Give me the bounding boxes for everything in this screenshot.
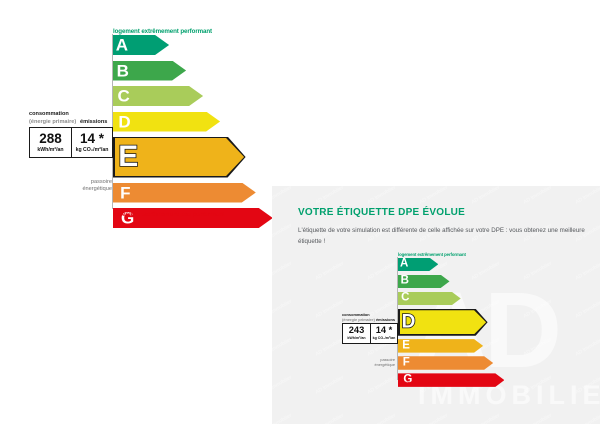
sim-emissions-value-cell: 14 * kg CO₂/m²/an <box>370 324 397 343</box>
consumption-value-cell: 288 kWh/m²/an <box>30 128 71 157</box>
dpe-energy-label-main: logement extrêmement performant ABCDEFG … <box>0 0 300 230</box>
watermark-tile: AD Immobilier <box>272 337 293 358</box>
watermark-tile: AD Immobilier <box>419 186 449 205</box>
watermark-tile: AD Immobilier <box>272 223 293 244</box>
passoire-energetique-caption: passoire énergétique <box>32 179 112 193</box>
sim-grade-bar-d: D <box>398 309 488 336</box>
sim-grade-bar-c: C <box>398 292 461 306</box>
watermark-tile: AD Immobilier <box>272 375 293 396</box>
sim-chevron-shape-e <box>398 339 483 353</box>
sim-grade-row-c: C <box>398 292 510 306</box>
label-top-caption: logement extrêmement performant <box>113 28 212 35</box>
watermark-tile: AD Immobilier <box>471 186 501 205</box>
sim-passoire-line-2: énergétique <box>335 363 395 368</box>
watermark-tile: AD Immobilier <box>272 299 293 320</box>
consumption-label: consommation <box>29 111 69 117</box>
watermark-tile: AD Immobilier <box>367 413 397 424</box>
watermark-tile: AD Immobilier <box>419 413 449 424</box>
sim-consumption-value: 243 <box>349 326 365 335</box>
sim-grade-letter-f: F <box>403 357 410 369</box>
sim-grade-row-e: E <box>398 339 510 353</box>
grade-row-a: A <box>113 35 283 55</box>
label-bottom-caption: logement extrêmement peu performant <box>113 211 224 218</box>
watermark-tile: AD Immobilier <box>272 186 293 205</box>
panel-body-text: L'étiquette de votre simulation est diff… <box>298 226 586 248</box>
watermark-tile: AD Immobilier <box>523 413 553 424</box>
sim-consumption-value-cell: 243 kWh/m²/an <box>343 324 370 343</box>
sim-emissions-value: 14 * <box>376 326 393 335</box>
watermark-tile: AD Immobilier <box>575 413 600 424</box>
grade-row-d: D <box>113 112 283 132</box>
passoire-line-1: passoire <box>32 179 112 186</box>
grade-row-b: B <box>113 61 283 81</box>
watermark-tile: AD Immobilier <box>367 186 397 205</box>
sim-consumption-unit: kWh/m²/an <box>347 337 365 341</box>
consumption-value: 288 <box>39 132 62 146</box>
sim-grade-letter-e: E <box>402 340 410 352</box>
grade-letter-a: A <box>116 37 128 54</box>
grade-letter-e: E <box>118 142 138 172</box>
emissions-label: émissions <box>80 119 107 125</box>
dpe-energy-label-simulation: logement extrêmement performant ABCDEFG … <box>330 252 580 402</box>
grade-bar-b: B <box>113 61 186 81</box>
sim-chevron-shape-f <box>398 356 493 370</box>
grade-letter-b: B <box>117 62 129 79</box>
grade-bar-f: F <box>113 183 256 203</box>
dpe-evolution-panel: AD IMMOBILIER AD ImmobilierAD Immobilier… <box>272 186 600 424</box>
consumption-unit: kWh/m²/an <box>37 148 63 153</box>
sim-grade-letter-d: D <box>402 313 416 332</box>
panel-title: VOTRE ÉTIQUETTE DPE ÉVOLUE <box>298 207 465 218</box>
sim-grade-letter-c: C <box>401 293 409 305</box>
sim-emissions-label: émissions <box>376 317 395 322</box>
sim-consumption-sublabel: (énergie primaire) <box>342 317 375 322</box>
sim-grade-letter-b: B <box>401 276 409 288</box>
grade-bar-a: A <box>113 35 169 55</box>
emissions-unit: kg CO₂/m²/an <box>76 148 109 153</box>
sim-grade-bar-e: E <box>398 339 483 353</box>
sim-grade-row-a: A <box>398 258 510 272</box>
watermark-tile: AD Immobilier <box>315 186 345 205</box>
sim-value-box: 243 kWh/m²/an 14 * kg CO₂/m²/an <box>342 323 398 344</box>
chevron-shape-f <box>113 183 256 203</box>
emissions-value: 14 * <box>80 132 104 146</box>
grade-bar-list: ABCDEFG <box>113 35 283 234</box>
grade-row-e: E <box>113 137 283 178</box>
watermark-tile: AD Immobilier <box>471 413 501 424</box>
passoire-line-2: énergétique <box>32 186 112 193</box>
sim-grade-bar-f: F <box>398 356 493 370</box>
grade-letter-d: D <box>118 113 130 130</box>
sim-grade-row-f: F <box>398 356 510 370</box>
sim-passoire-energetique-caption: passoire énergétique <box>335 358 395 368</box>
sim-grade-bar-a: A <box>398 258 438 272</box>
value-box: 288 kWh/m²/an 14 * kg CO₂/m²/an <box>29 127 113 158</box>
watermark-tile: AD Immobilier <box>315 413 345 424</box>
sim-grade-row-d: D <box>398 309 510 336</box>
sim-emissions-unit: kg CO₂/m²/an <box>373 337 396 341</box>
grade-bar-e: E <box>113 137 246 178</box>
watermark-tile: AD Immobilier <box>272 261 293 282</box>
grade-letter-c: C <box>118 88 130 105</box>
grade-bar-c: C <box>113 86 203 106</box>
sim-label-bottom-caption: logement extrêmement peu perfo... <box>398 380 466 385</box>
grade-row-c: C <box>113 86 283 106</box>
watermark-tile: AD Immobilier <box>272 413 293 424</box>
watermark-tile: AD Immobilier <box>523 186 553 205</box>
grade-letter-f: F <box>120 184 130 201</box>
grade-bar-d: D <box>113 112 220 132</box>
sim-grade-row-b: B <box>398 275 510 289</box>
sim-label-top-caption: logement extrêmement performant <box>398 252 466 257</box>
sim-grade-letter-a: A <box>400 259 408 271</box>
sim-grade-bar-list: ABCDEFG <box>398 258 510 391</box>
grade-row-f: F <box>113 183 283 203</box>
watermark-tile: AD Immobilier <box>575 186 600 205</box>
consumption-sublabel: (énergie primaire) <box>29 119 76 125</box>
sim-grade-bar-b: B <box>398 275 450 289</box>
emissions-value-cell: 14 * kg CO₂/m²/an <box>71 128 112 157</box>
